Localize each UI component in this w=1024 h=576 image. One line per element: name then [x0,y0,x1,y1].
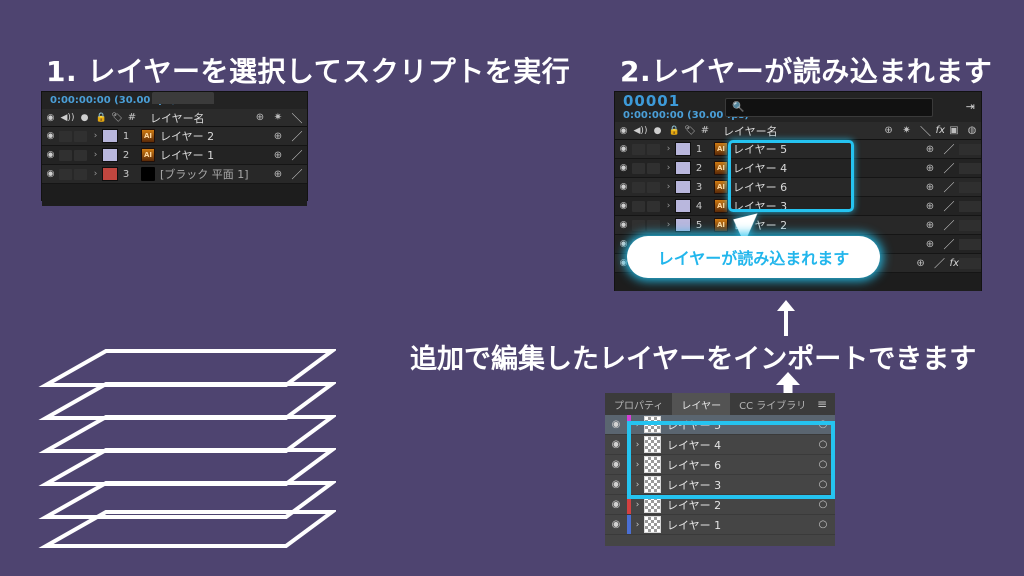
layer-mask-circle-icon[interactable]: ○ [811,499,835,510]
row-mode-icon[interactable]: ／ [939,217,959,233]
layer-name[interactable]: レイヤー 4 [667,437,811,453]
row-parent-icon[interactable]: ⊕ [921,144,939,155]
chevron-right-icon[interactable]: › [631,520,644,530]
expand-chevron-icon[interactable]: › [662,182,675,192]
row-eye-icon[interactable]: ◉ [42,150,59,160]
row-tail-cell [959,258,981,269]
ae1-topbar: 0:00:00:00 (30.00 fps) [42,92,307,109]
row-mode-icon[interactable]: ／ [287,128,307,144]
audio-icon: ◀)) [632,126,649,136]
eye-icon[interactable]: ◉ [605,479,627,490]
ai-source-icon: AI [714,218,728,232]
row-mode-icon[interactable]: ／ [930,255,950,271]
row-index: 3 [691,182,707,193]
import-caption: 追加で編集したレイヤーをインポートできます [410,337,976,376]
row-layer-name[interactable]: レイヤー 5 [733,141,921,157]
expand-chevron-icon[interactable]: › [662,201,675,211]
parent-icon: ⊕ [880,125,898,136]
ps-layer-list: ◉ › レイヤー 5 ○ ◉ › レイヤー 4 ○ ◉ › レイヤー 6 ○ ◉… [605,415,835,546]
row-parent-icon[interactable]: ⊕ [912,258,930,269]
after-effects-timeline-panel-1[interactable]: 0:00:00:00 (30.00 fps) ◉ ◀)) ● 🔒 🏷 # レイヤ… [41,91,308,201]
list-item[interactable]: ◉ › レイヤー 4 ○ [605,435,835,455]
table-row[interactable]: ◉ › 1 AI レイヤー 5 ⊕ ／ [615,140,981,159]
row-parent-icon[interactable]: ⊕ [269,131,287,142]
ae1-footer [42,184,307,206]
row-parent-icon[interactable]: ⊕ [269,150,287,161]
row-parent-icon[interactable]: ⊕ [921,182,939,193]
chevron-right-icon[interactable]: › [631,420,644,430]
row-color-swatch [675,180,691,194]
row-layer-name[interactable]: レイヤー 2 [160,128,269,144]
chevron-right-icon[interactable]: › [631,440,644,450]
heading-step-1: 1. レイヤーを選択してスクリプトを実行 [46,50,570,90]
eye-icon[interactable]: ◉ [605,439,627,450]
speech-bubble-text: レイヤーが読み込まれます [658,245,850,269]
list-item[interactable]: ◉ › レイヤー 3 ○ [605,475,835,495]
hamburger-menu-icon[interactable]: ≡ [817,397,827,411]
switches-icon: ✷ [269,112,287,123]
table-row[interactable]: ◉ › 2 AI レイヤー 4 ⊕ ／ [615,159,981,178]
panel-menu-icon[interactable]: ⇥ [966,100,975,113]
row-fx-icon[interactable]: fx [950,258,959,269]
row-eye-icon[interactable]: ◉ [615,163,632,173]
table-row[interactable]: ◉ › 3 [ブラック 平面 1] ⊕ ／ [42,165,307,184]
expand-chevron-icon[interactable]: › [89,131,102,141]
chevron-right-icon[interactable]: › [631,480,644,490]
row-mode-icon[interactable]: ／ [939,236,959,252]
row-layer-name[interactable]: レイヤー 1 [160,147,269,163]
eraser-icon: ◍ [963,125,981,136]
row-tail-cell [959,220,981,231]
eye-icon[interactable]: ◉ [605,459,627,470]
eye-icon[interactable]: ◉ [605,419,627,430]
row-layer-name[interactable]: レイヤー 3 [733,198,921,214]
row-mode-icon[interactable]: ／ [939,141,959,157]
layer-thumbnail [644,476,661,493]
row-index: 5 [691,220,707,231]
eye-icon[interactable]: ◉ [605,519,627,530]
ai-source-icon: AI [714,142,728,156]
row-eye-icon[interactable]: ◉ [615,144,632,154]
solo-icon: ● [649,126,666,136]
ai-source-icon: AI [714,161,728,175]
row-color-swatch [102,129,118,143]
tab-layers[interactable]: レイヤー [672,393,730,415]
row-eye-icon[interactable]: ◉ [615,220,632,230]
row-tail-cell [959,144,981,155]
hash-column-label: # [697,125,713,136]
row-parent-icon[interactable]: ⊕ [269,169,287,180]
row-tail-cell [959,163,981,174]
layer-name[interactable]: レイヤー 6 [667,457,811,473]
row-mode-icon[interactable]: ／ [939,198,959,214]
ai-source-icon: AI [141,148,155,162]
ae1-rows: ◉ › 1 AI レイヤー 2 ⊕ ／ ◉ › 2 AI レイヤー 1 ⊕ ／ … [42,127,307,184]
layer-thumbnail [644,496,661,513]
row-mode-icon[interactable]: ／ [287,147,307,163]
row-blank-cell [647,144,660,155]
parent-icon: ⊕ [251,112,269,123]
eye-icon[interactable]: ◉ [605,499,627,510]
row-mode-icon[interactable]: ／ [939,179,959,195]
row-color-swatch [675,218,691,232]
layer-sheet-group [46,351,332,546]
hash-column-label: # [124,112,140,123]
row-blank-cell [647,201,660,212]
row-color-swatch [675,199,691,213]
layer-sheet [46,450,332,484]
layer-name[interactable]: レイヤー 1 [667,517,811,533]
adjustment-icon: ▣ [945,125,963,136]
switches-icon: ✷ [898,125,916,136]
layer-mask-circle-icon[interactable]: ○ [811,459,835,470]
row-tail-cell [959,201,981,212]
layer-thumbnail [644,416,661,433]
row-blank-cell [632,220,645,231]
layer-thumbnail [644,456,661,473]
lock-icon: 🔒 [93,113,110,123]
layer-name[interactable]: レイヤー 3 [667,477,811,493]
row-index: 1 [691,144,707,155]
row-index: 1 [118,131,134,142]
row-blank-cell [647,182,660,193]
speech-bubble: レイヤーが読み込まれます [627,236,880,278]
layer-name-column-label: レイヤー名 [713,123,880,139]
row-blank-cell [632,182,645,193]
row-color-swatch [102,148,118,162]
ae1-column-header: ◉ ◀)) ● 🔒 🏷 # レイヤー名 ⊕ ✷ ＼ [42,109,307,127]
row-parent-icon[interactable]: ⊕ [921,220,939,231]
layer-thumbnail [644,516,661,533]
row-blank-cell [59,150,72,161]
ai-source-icon: AI [714,199,728,213]
layer-mask-circle-icon[interactable]: ○ [811,439,835,450]
arrow-up-icon-top [773,300,799,336]
layer-sheet [46,351,332,385]
layer-name-column-label: レイヤー名 [140,110,251,126]
tag-icon: 🏷 [683,126,697,136]
row-parent-icon[interactable]: ⊕ [921,163,939,174]
table-row[interactable]: ◉ › 3 AI レイヤー 6 ⊕ ／ [615,178,981,197]
row-mode-icon[interactable]: ／ [287,166,307,182]
row-eye-icon[interactable]: ◉ [42,169,59,179]
ai-source-icon: AI [714,180,728,194]
list-item[interactable]: ◉ › レイヤー 5 ○ [605,415,835,435]
expand-chevron-icon[interactable]: › [662,144,675,154]
mode-icon: ＼ [916,123,936,139]
row-index: 2 [691,163,707,174]
photoshop-layers-panel[interactable]: プロパティ レイヤー CC ライブラリ ≡ ◉ › レイヤー 5 ○ ◉ › レ… [605,393,835,546]
row-tail-cell [959,182,981,193]
row-eye-icon[interactable]: ◉ [615,182,632,192]
row-tail-cell [959,239,981,250]
fx-icon: fx [936,125,945,136]
solo-icon: ● [76,113,93,123]
audio-icon: ◀)) [59,113,76,123]
table-row[interactable]: ◉ › 1 AI レイヤー 2 ⊕ ／ [42,127,307,146]
table-row[interactable]: ◉ › 5 AI レイヤー 2 ⊕ ／ [615,216,981,235]
solid-source-icon [141,167,155,181]
row-index: 3 [118,169,134,180]
row-parent-icon[interactable]: ⊕ [921,201,939,212]
layer-name[interactable]: レイヤー 5 [667,417,811,433]
eye-icon: ◉ [42,113,59,123]
row-index: 4 [691,201,707,212]
list-item[interactable]: ◉ › レイヤー 2 ○ [605,495,835,515]
row-blank-cell [74,169,87,180]
ai-source-icon: AI [141,129,155,143]
list-item[interactable]: ◉ › レイヤー 1 ○ [605,515,835,535]
expand-chevron-icon[interactable]: › [89,169,102,179]
row-layer-name[interactable]: レイヤー 6 [733,179,921,195]
tag-icon: 🏷 [110,113,124,123]
ae2-topbar: 00001 0:00:00:00 (30.00 fps) 🔍 ⇥ [615,92,981,122]
table-row[interactable]: ◉ › 2 AI レイヤー 1 ⊕ ／ [42,146,307,165]
row-blank-cell [74,150,87,161]
lock-icon: 🔒 [666,126,683,136]
layer-sheet [46,384,332,418]
row-color-swatch [675,161,691,175]
layer-sheet [46,417,332,451]
row-eye-icon[interactable]: ◉ [42,131,59,141]
chevron-right-icon[interactable]: › [631,500,644,510]
ps-tab-bar: プロパティ レイヤー CC ライブラリ ≡ [605,393,835,415]
eye-icon: ◉ [615,126,632,136]
layer-mask-circle-icon[interactable]: ○ [811,419,835,430]
row-blank-cell [632,144,645,155]
ae1-tab-stub[interactable] [152,92,214,104]
row-blank-cell [59,131,72,142]
row-eye-icon[interactable]: ◉ [615,201,632,211]
tab-cc-libraries[interactable]: CC ライブラリ [730,393,815,415]
layer-mask-circle-icon[interactable]: ○ [811,519,835,530]
row-layer-name[interactable]: [ブラック 平面 1] [160,166,269,182]
row-index: 2 [118,150,134,161]
expand-chevron-icon[interactable]: › [662,220,675,230]
ae2-column-header: ◉ ◀)) ● 🔒 🏷 # レイヤー名 ⊕ ✷ ＼ fx ▣ ◍ [615,122,981,140]
list-item[interactable]: ◉ › レイヤー 6 ○ [605,455,835,475]
row-blank-cell [632,201,645,212]
expand-chevron-icon[interactable]: › [89,150,102,160]
tab-properties[interactable]: プロパティ [605,393,672,415]
row-parent-icon[interactable]: ⊕ [921,239,939,250]
row-blank-cell [74,131,87,142]
table-row[interactable]: ◉ › 4 AI レイヤー 3 ⊕ ／ [615,197,981,216]
row-blank-cell [647,163,660,174]
row-color-swatch [102,167,118,181]
heading-step-2: 2.レイヤーが読み込まれます [620,50,992,90]
layer-name[interactable]: レイヤー 2 [667,497,811,513]
row-mode-icon[interactable]: ／ [939,160,959,176]
row-blank-cell [647,220,660,231]
search-input[interactable]: 🔍 [725,98,933,117]
expand-chevron-icon[interactable]: › [662,163,675,173]
row-color-swatch [675,142,691,156]
row-layer-name[interactable]: レイヤー 4 [733,160,921,176]
layer-stack-illustration [36,343,336,553]
layer-thumbnail [644,436,661,453]
row-blank-cell [632,163,645,174]
chevron-right-icon[interactable]: › [631,460,644,470]
mode-icon: ＼ [287,110,307,126]
layer-mask-circle-icon[interactable]: ○ [811,479,835,490]
row-blank-cell [59,169,72,180]
